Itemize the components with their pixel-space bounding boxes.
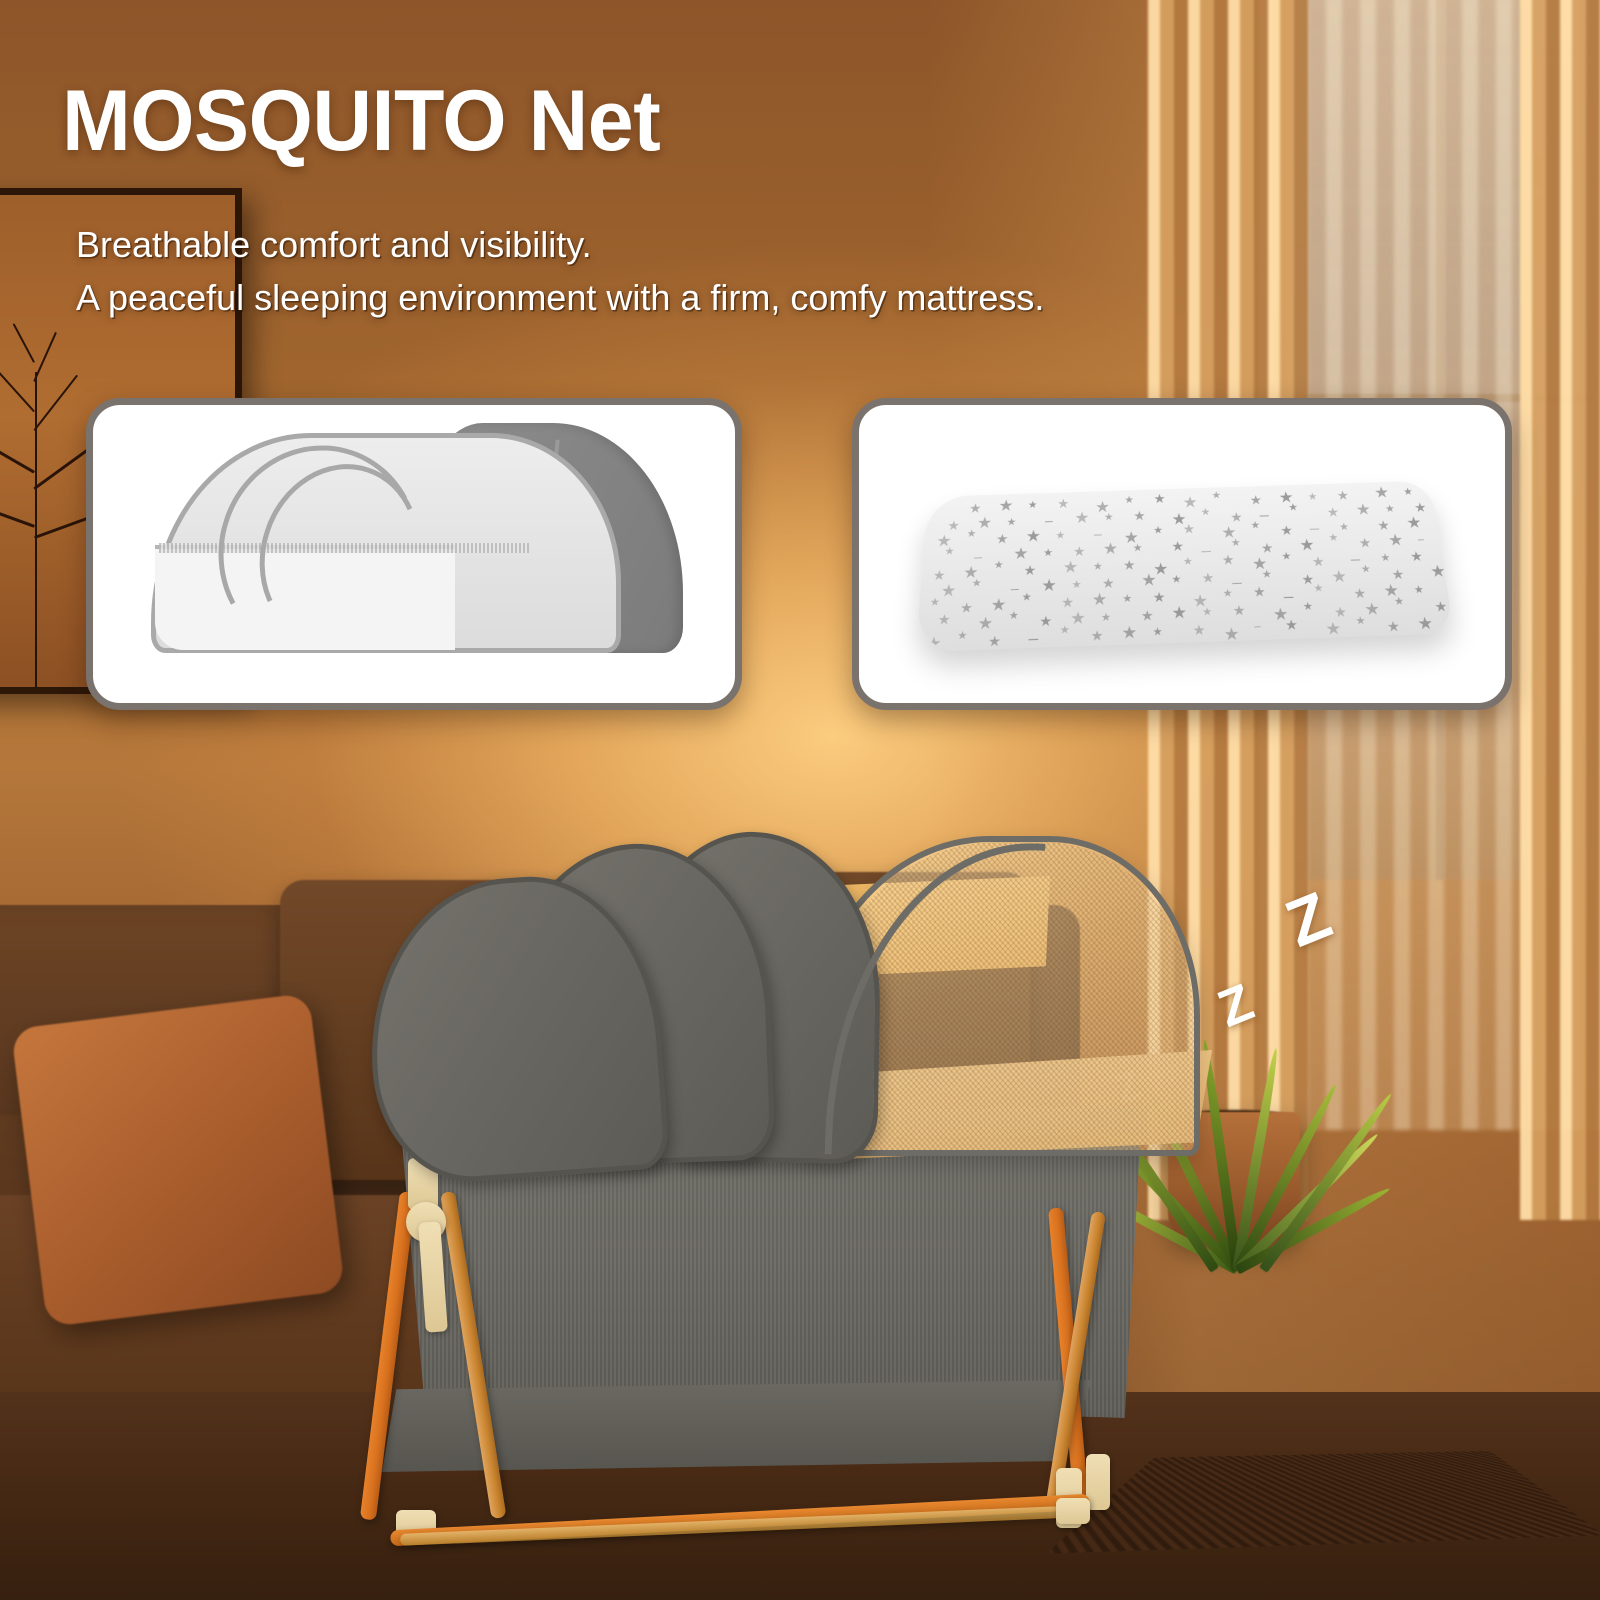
star-icon: – — [1283, 588, 1294, 605]
star-icon: ★ — [1288, 503, 1298, 513]
star-icon: ★ — [1202, 607, 1213, 618]
star-icon: ★ — [1021, 592, 1031, 603]
star-icon: ★ — [1091, 628, 1104, 643]
star-icon: ★ — [931, 499, 941, 509]
star-icon: ★ — [1363, 600, 1381, 618]
star-icon: – — [1201, 542, 1211, 558]
star-icon: ★ — [1307, 492, 1318, 502]
star-icon: ★ — [996, 532, 1009, 546]
star-icon: ★ — [1260, 541, 1273, 555]
star-icon: ★ — [1299, 537, 1316, 554]
star-icon: ★ — [1074, 510, 1089, 526]
star-icon: ★ — [1103, 540, 1118, 557]
star-icon: ★ — [1072, 580, 1082, 591]
subtitle-line-1: Breathable comfort and visibility. — [76, 218, 1516, 271]
star-icon: – — [1028, 629, 1038, 647]
star-icon: ★ — [1328, 533, 1339, 544]
star-icon: ★ — [1325, 620, 1342, 638]
star-icon: ★ — [1092, 591, 1108, 608]
star-icon: ★ — [1313, 584, 1324, 595]
star-icon: ★ — [1101, 613, 1111, 624]
star-icon: ★ — [1280, 523, 1293, 536]
star-icon: ★ — [1222, 589, 1233, 600]
star-icon: ★ — [1385, 504, 1396, 514]
star-icon: ★ — [988, 634, 1002, 649]
star-icon: ★ — [1405, 515, 1422, 531]
star-icon: ★ — [937, 612, 951, 627]
product-marketing-image: MOSQUITO Net Breathable comfort and visi… — [0, 0, 1600, 1600]
star-icon: ★ — [1284, 617, 1298, 632]
star-icon: ★ — [1387, 532, 1404, 549]
star-icon: ★ — [1326, 505, 1340, 518]
star-icon: ★ — [1250, 521, 1260, 532]
star-icon: ★ — [1039, 614, 1052, 629]
star-icon: ★ — [932, 568, 946, 582]
star-icon: ★ — [1409, 549, 1423, 563]
star-icon: ★ — [1355, 502, 1372, 518]
star-icon: ★ — [1262, 570, 1273, 581]
star-icon: ★ — [1223, 625, 1240, 643]
star-icon: ★ — [1373, 485, 1390, 501]
stand-foot-bracket-right — [1056, 1498, 1090, 1524]
star-icon: ★ — [1102, 576, 1115, 590]
star-icon: ★ — [1360, 564, 1371, 575]
star-icon: ★ — [1060, 625, 1070, 637]
star-print-mattress: ★★★★★★★★★★★★★★★★★★★–★★★★★★–★★★★★★★★★★–★★… — [916, 481, 1454, 652]
star-icon: ★ — [1391, 567, 1405, 581]
star-icon: ★ — [1386, 619, 1401, 634]
star-icon: ★ — [1061, 595, 1074, 609]
star-icon: ★ — [1413, 585, 1424, 596]
star-icon: ★ — [1023, 563, 1036, 577]
star-icon: ★ — [1141, 608, 1154, 623]
star-icon: ★ — [960, 600, 974, 614]
feature-card-mattress[interactable]: ★★★★★★★★★★★★★★★★★★★–★★★★★★–★★★★★★★★★★–★★… — [852, 398, 1512, 710]
star-icon: – — [1417, 535, 1425, 546]
subtitle-line-2: A peaceful sleeping environment with a f… — [76, 271, 1516, 324]
star-icon: ★ — [1249, 493, 1262, 506]
mosquito-net-illustration — [93, 405, 735, 703]
star-icon: ★ — [1339, 523, 1350, 534]
star-icon: ★ — [993, 560, 1003, 571]
throw-pillow — [11, 993, 345, 1327]
star-icon: ★ — [1008, 611, 1019, 622]
star-icon: – — [1259, 507, 1269, 523]
star-icon: ★ — [1171, 539, 1184, 553]
star-icon: ★ — [1231, 538, 1241, 549]
star-icon: – — [1045, 514, 1053, 527]
star-icon: ★ — [971, 578, 982, 589]
star-icon: ★ — [1358, 536, 1372, 550]
star-icon: ★ — [1221, 553, 1234, 567]
star-icon: – — [1094, 527, 1102, 540]
star-icon: ★ — [977, 615, 994, 633]
star-icon: ★ — [1403, 487, 1414, 497]
star-icon: ★ — [1355, 616, 1366, 627]
star-icon: ★ — [1171, 575, 1181, 586]
star-icon: ★ — [1006, 518, 1016, 529]
star-icon: ★ — [1153, 590, 1166, 604]
star-icon: ★ — [1232, 603, 1246, 617]
star-icon: ★ — [1311, 554, 1325, 568]
star-icon: ★ — [1104, 513, 1114, 523]
star-icon: ★ — [977, 515, 993, 531]
star-icon: ★ — [1192, 622, 1206, 637]
star-icon: ★ — [1123, 558, 1136, 572]
star-icon: ★ — [1124, 496, 1134, 506]
star-icon: ★ — [1093, 562, 1103, 573]
subtitle: Breathable comfort and visibility. A pea… — [76, 218, 1516, 325]
star-icon: ★ — [1377, 518, 1391, 531]
star-icon: ★ — [1183, 522, 1196, 535]
star-icon: – — [1309, 520, 1320, 536]
star-icon: ★ — [1182, 494, 1197, 510]
star-icon: ★ — [1333, 605, 1347, 619]
star-icon: ★ — [1416, 615, 1434, 633]
star-icon: ★ — [1070, 609, 1086, 627]
star-icon: ★ — [1013, 545, 1029, 562]
star-icon: ★ — [944, 547, 955, 558]
star-icon: ★ — [1152, 627, 1162, 639]
star-icon: ★ — [1133, 543, 1143, 554]
star-icon: ★ — [929, 598, 940, 609]
star-icon: ★ — [1201, 508, 1211, 518]
star-icon: ★ — [1201, 571, 1214, 585]
star-icon: ★ — [947, 519, 960, 532]
star-icon: ★ — [1393, 597, 1404, 608]
star-icon: ★ — [1211, 491, 1221, 501]
star-icon: ★ — [1122, 594, 1132, 605]
star-icon: ★ — [1171, 604, 1187, 622]
star-icon: ★ — [1413, 501, 1427, 514]
star-icon: ★ — [1057, 497, 1069, 510]
star-icon: ★ — [1041, 577, 1057, 594]
star-icon: ★ — [966, 529, 976, 540]
star-icon: ★ — [1141, 572, 1157, 589]
star-icon: ★ — [1433, 599, 1448, 613]
star-icon: ★ — [1336, 489, 1350, 502]
star-pattern: ★★★★★★★★★★★★★★★★★★★–★★★★★★–★★★★★★★★★★–★★… — [916, 481, 1454, 652]
star-icon: ★ — [1429, 563, 1447, 580]
star-icon: ★ — [1303, 602, 1314, 613]
star-icon: ★ — [998, 498, 1014, 514]
star-icon: ★ — [1153, 526, 1163, 537]
star-icon: – — [1011, 581, 1019, 595]
star-icon: ★ — [1153, 492, 1166, 505]
star-icon: ★ — [1253, 585, 1267, 599]
star-icon: – — [1254, 622, 1261, 633]
star-icon: ★ — [957, 631, 968, 643]
star-icon: ★ — [1230, 510, 1243, 523]
star-icon: ★ — [1121, 624, 1137, 642]
star-icon: ★ — [1073, 544, 1086, 558]
page-title: MOSQUITO Net — [62, 78, 660, 164]
star-icon: ★ — [1043, 548, 1053, 559]
star-icon: ★ — [1133, 509, 1146, 522]
star-icon: ★ — [925, 635, 942, 652]
star-icon: ★ — [1183, 557, 1193, 568]
star-icon: ★ — [1055, 531, 1065, 542]
feature-card-mosquito-net[interactable] — [86, 398, 742, 710]
star-icon: – — [974, 550, 983, 564]
star-icon: ★ — [1353, 586, 1367, 600]
star-icon: ★ — [969, 501, 982, 514]
star-icon: – — [1232, 574, 1243, 591]
bassinet-product: Z Z Z — [330, 820, 1230, 1600]
star-icon: ★ — [1380, 553, 1391, 564]
star-icon: ★ — [990, 596, 1006, 613]
star-icon: ★ — [1063, 559, 1079, 576]
curtain-panel-right — [1520, 0, 1600, 1220]
star-icon: ★ — [1028, 501, 1038, 511]
star-icon: ★ — [1026, 528, 1042, 544]
star-icon: ★ — [1331, 568, 1348, 585]
star-icon: ★ — [1281, 552, 1292, 563]
star-icon: ★ — [940, 582, 957, 599]
